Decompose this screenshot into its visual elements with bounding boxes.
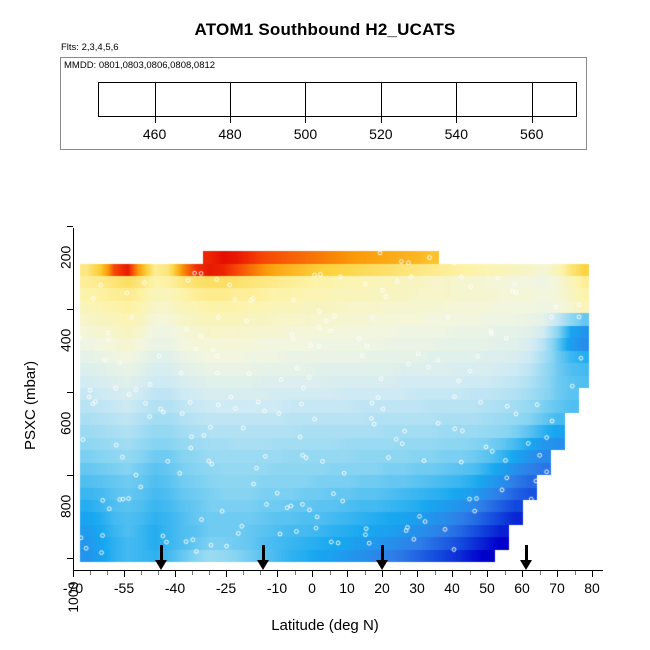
x-axis-tick — [592, 571, 593, 577]
x-axis-minor-tick — [158, 571, 159, 575]
colorbar-tick — [381, 117, 382, 123]
x-axis-minor-tick — [540, 571, 541, 575]
x-axis-tick — [557, 571, 558, 577]
colorbar-tick-label: 520 — [369, 126, 392, 142]
y-axis-tick-label: 400 — [57, 328, 73, 351]
flights-annotation: Flts: 2,3,4,5,6 — [61, 42, 119, 53]
page-title: ATOM1 Southbound H2_UCATS — [0, 20, 650, 40]
colorbar-separator — [456, 82, 457, 117]
x-axis-tick-label: 0 — [308, 580, 316, 596]
mmdd-annotation: MMDD: 0801,0803,0806,0808,0812 — [64, 60, 215, 71]
heatmap-plot — [73, 205, 603, 570]
x-axis-tick-label: 40 — [444, 580, 460, 596]
x-axis-tick — [312, 571, 313, 577]
colorbar-tick-label: 480 — [218, 126, 241, 142]
x-axis-tick — [73, 571, 74, 577]
x-axis-label: Latitude (deg N) — [0, 617, 650, 634]
x-axis-minor-tick — [107, 571, 108, 575]
y-axis-tick-label: 800 — [57, 494, 73, 517]
x-axis-tick — [347, 571, 348, 577]
colorbar-tick-label: 560 — [520, 126, 543, 142]
x-axis-tick — [382, 571, 383, 577]
y-axis-tick-label: 200 — [57, 245, 73, 268]
x-axis-minor-tick — [575, 571, 576, 575]
x-axis-minor-tick — [330, 571, 331, 575]
x-axis-minor-tick — [260, 571, 261, 575]
heatmap-canvas — [73, 205, 603, 570]
latitude-arrow-head — [257, 560, 269, 570]
y-axis-label: PSXC (mbar) — [22, 361, 39, 450]
x-axis-tick — [452, 571, 453, 577]
x-axis-tick — [417, 571, 418, 577]
x-axis-tick — [175, 571, 176, 577]
colorbar-tick — [230, 117, 231, 123]
latitude-arrow-head — [155, 560, 167, 570]
colorbar-separator — [155, 82, 156, 117]
colorbar — [98, 82, 577, 117]
colorbar-tick-label: 500 — [294, 126, 317, 142]
y-axis-tick — [67, 392, 73, 393]
colorbar-tick — [532, 117, 533, 123]
latitude-arrow-head — [520, 560, 532, 570]
x-axis-minor-tick — [243, 571, 244, 575]
x-axis-tick-label: 80 — [584, 580, 600, 596]
x-axis-tick — [226, 571, 227, 577]
x-axis-tick-label: 10 — [339, 580, 355, 596]
y-axis-tick — [67, 309, 73, 310]
x-axis-tick-label: -10 — [267, 580, 287, 596]
x-axis-tick-label: 50 — [479, 580, 495, 596]
colorbar-tick-label: 460 — [143, 126, 166, 142]
x-axis-line — [73, 570, 603, 571]
colorbar-gradient — [99, 83, 576, 116]
x-axis-tick-label: -70 — [63, 580, 83, 596]
x-axis-minor-tick — [209, 571, 210, 575]
colorbar-tick — [155, 117, 156, 123]
x-axis-minor-tick — [90, 571, 91, 575]
colorbar-tick — [305, 117, 306, 123]
x-axis-minor-tick — [141, 571, 142, 575]
x-axis-tick — [277, 571, 278, 577]
y-axis-tick — [67, 558, 73, 559]
y-axis-tick — [67, 226, 73, 227]
colorbar-separator — [230, 82, 231, 117]
x-axis-tick — [124, 571, 125, 577]
y-axis-tick — [67, 475, 73, 476]
x-axis-tick-label: 30 — [409, 580, 425, 596]
y-axis-tick-label: 600 — [57, 411, 73, 434]
x-axis-tick-label: 60 — [514, 580, 530, 596]
x-axis-tick-label: 70 — [549, 580, 565, 596]
x-axis-minor-tick — [365, 571, 366, 575]
y-axis-line — [73, 228, 74, 570]
x-axis-minor-tick — [400, 571, 401, 575]
x-axis-tick-label: -25 — [216, 580, 236, 596]
latitude-arrow-head — [376, 560, 388, 570]
x-axis-minor-tick — [435, 571, 436, 575]
x-axis-minor-tick — [470, 571, 471, 575]
x-axis-tick-label: -55 — [114, 580, 134, 596]
x-axis-tick-label: -40 — [165, 580, 185, 596]
colorbar-separator — [381, 82, 382, 117]
colorbar-tick-label: 540 — [445, 126, 468, 142]
x-axis-minor-tick — [505, 571, 506, 575]
colorbar-tick — [456, 117, 457, 123]
colorbar-separator — [305, 82, 306, 117]
x-axis-tick-label: 20 — [374, 580, 390, 596]
x-axis-tick — [487, 571, 488, 577]
colorbar-separator — [532, 82, 533, 117]
x-axis-minor-tick — [295, 571, 296, 575]
x-axis-minor-tick — [192, 571, 193, 575]
x-axis-tick — [522, 571, 523, 577]
